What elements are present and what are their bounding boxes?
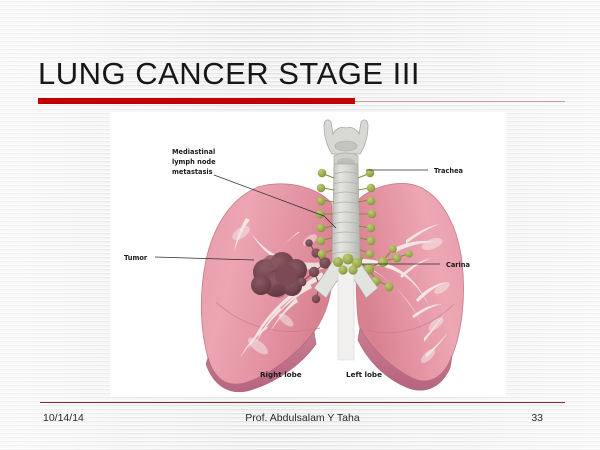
label-carina: Carina xyxy=(446,261,470,269)
label-trachea: Trachea xyxy=(434,167,463,175)
lung-anatomy-figure: Mediastinal lymph node metastasis Tumor … xyxy=(110,112,506,397)
label-tumor: Tumor xyxy=(124,254,148,262)
label-left-lobe: Left lobe xyxy=(346,370,382,379)
label-right-lobe: Right lobe xyxy=(260,370,302,379)
page-title: LUNG CANCER STAGE III xyxy=(38,55,420,93)
footer-divider xyxy=(40,402,565,403)
footer-author: Prof. Abdulsalam Y Taha xyxy=(40,412,565,424)
slide-footer: 10/14/14 Prof. Abdulsalam Y Taha 33 xyxy=(40,410,565,428)
label-mediastinal-line2: lymph node xyxy=(172,158,216,166)
footer-page-number: 33 xyxy=(531,412,543,424)
slide: LUNG CANCER STAGE III xyxy=(0,0,600,450)
title-underline-accent xyxy=(38,98,355,104)
label-mediastinal-line3: metastasis xyxy=(172,168,213,176)
label-mediastinal-line1: Mediastinal xyxy=(172,148,215,156)
